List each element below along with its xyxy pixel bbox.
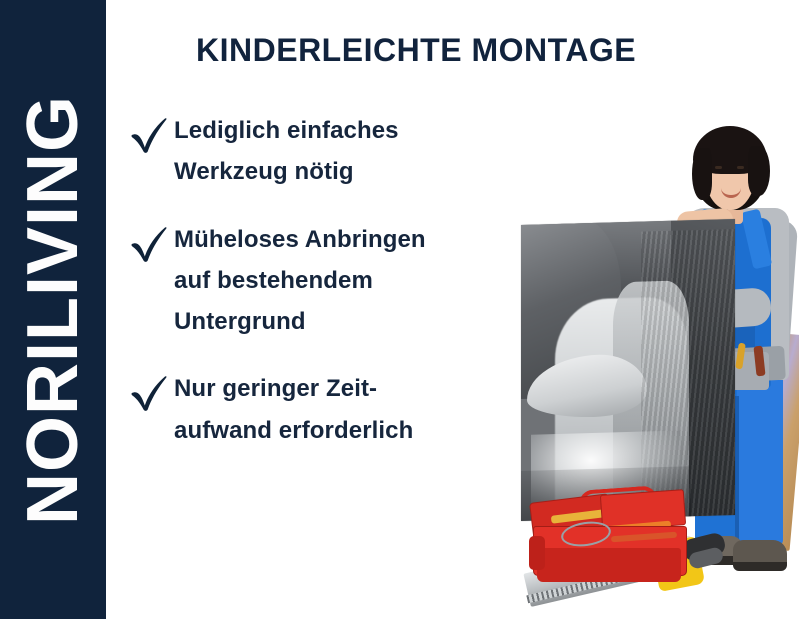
list-item: Müheloses Anbringen auf bestehendem Unte… bbox=[128, 219, 508, 343]
checkmark-icon bbox=[128, 114, 174, 154]
list-item-text: Nur geringer Zeit- aufwand erforderlich bbox=[174, 368, 508, 451]
list-item-line: auf bestehendem bbox=[174, 260, 508, 301]
list-item-text: Müheloses Anbringen auf bestehendem Unte… bbox=[174, 219, 508, 343]
toolbox-body-lower bbox=[537, 548, 681, 582]
checkmark-icon bbox=[128, 372, 174, 412]
leg-seam bbox=[735, 396, 739, 546]
list-item-text: Lediglich einfaches Werkzeug nötig bbox=[174, 110, 508, 193]
feature-list: Lediglich einfaches Werkzeug nötig Mühel… bbox=[128, 110, 508, 477]
promo-poster: NORILIVING KINDERLEICHTE MONTAGE Ledigli… bbox=[0, 0, 799, 619]
page-title: KINDERLEICHTE MONTAGE bbox=[196, 32, 636, 69]
list-item: Nur geringer Zeit- aufwand erforderlich bbox=[128, 368, 508, 451]
eye-left bbox=[715, 166, 722, 169]
leg-right bbox=[737, 376, 783, 546]
list-item-line: Müheloses Anbringen bbox=[174, 219, 508, 260]
list-item-line: Untergrund bbox=[174, 301, 508, 342]
brand-sidebar: NORILIVING bbox=[0, 0, 106, 619]
brand-name: NORILIVING bbox=[17, 94, 89, 524]
sole-right bbox=[733, 562, 787, 571]
list-item-line: Lediglich einfaches bbox=[174, 110, 508, 151]
list-item: Lediglich einfaches Werkzeug nötig bbox=[128, 110, 508, 193]
list-item-line: Nur geringer Zeit- bbox=[174, 368, 508, 409]
hair-side-left bbox=[692, 148, 712, 200]
eye-right bbox=[737, 166, 744, 169]
list-item-line: Werkzeug nötig bbox=[174, 151, 508, 192]
hair-side-right bbox=[748, 146, 770, 196]
red-toolbox bbox=[527, 482, 695, 592]
waterfall-poster bbox=[521, 219, 735, 521]
list-item-line: aufwand erforderlich bbox=[174, 410, 508, 451]
toolbox-hinge bbox=[529, 536, 545, 570]
checkmark-icon bbox=[128, 223, 174, 263]
product-photo bbox=[497, 100, 799, 619]
